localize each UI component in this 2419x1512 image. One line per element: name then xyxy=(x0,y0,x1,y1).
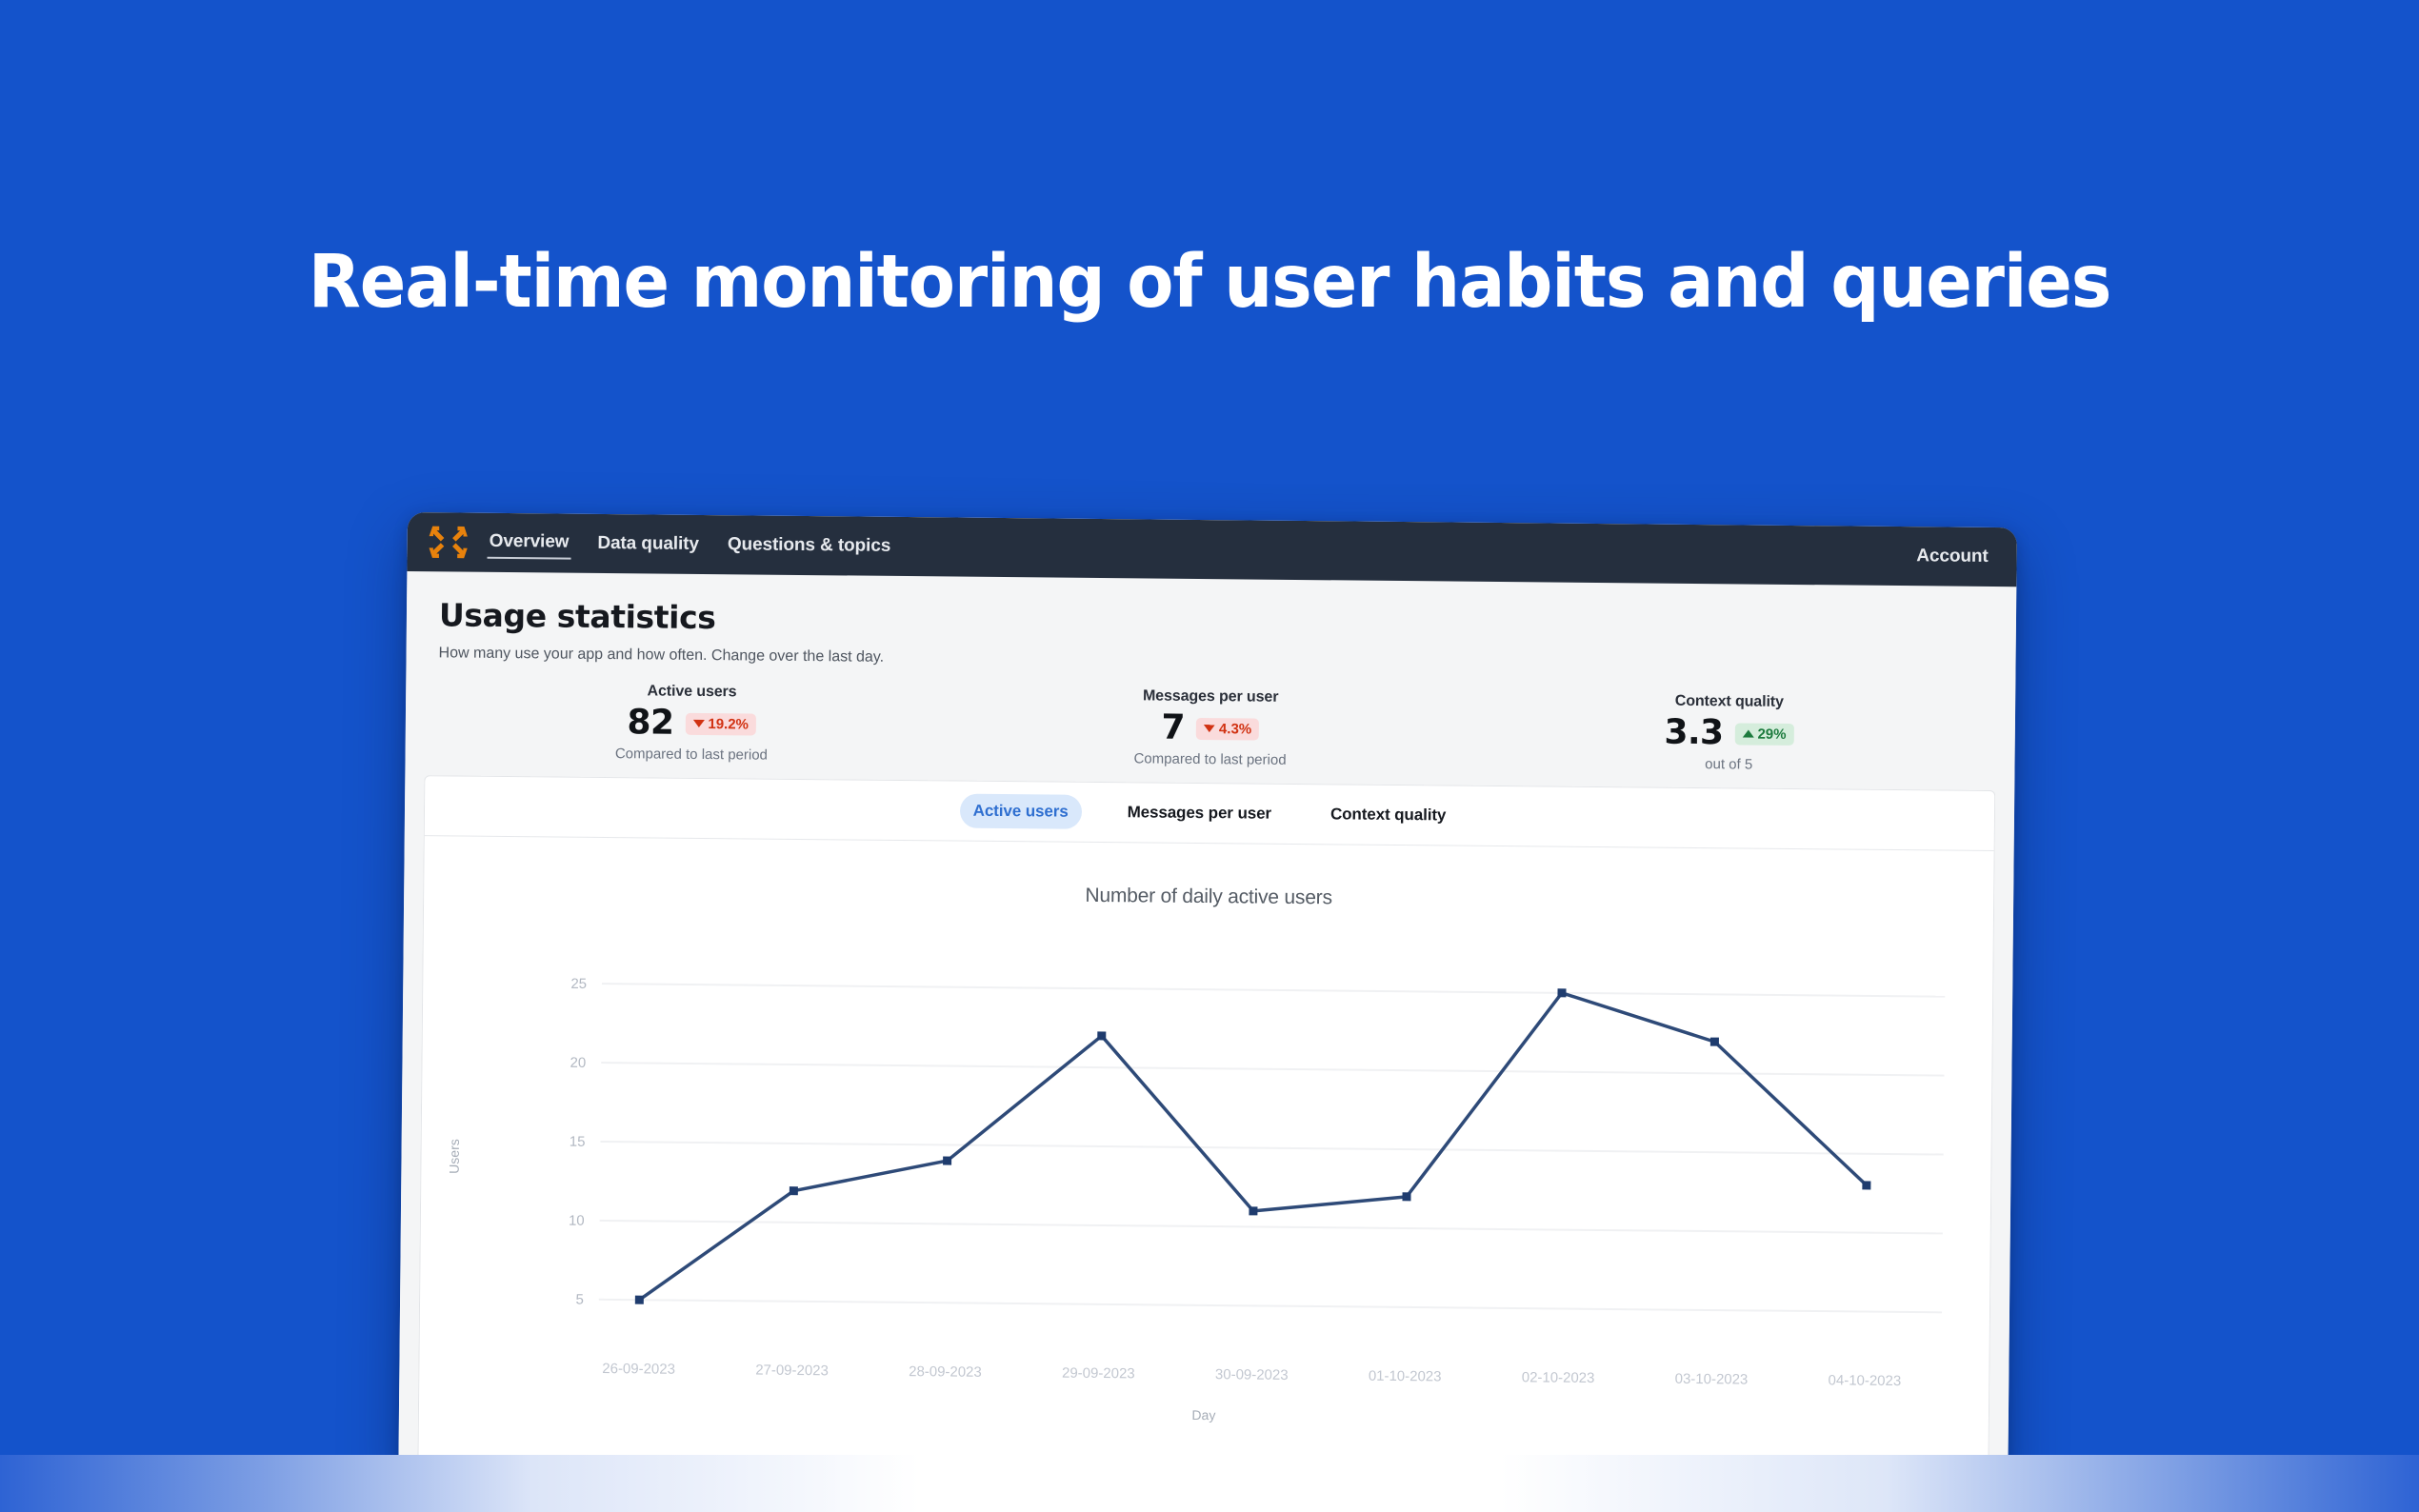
kpi-label: Active users xyxy=(432,681,951,703)
page-subtitle: How many use your app and how often. Cha… xyxy=(438,645,1983,677)
svg-text:20: 20 xyxy=(570,1055,587,1071)
kpi-row: Active users 82 19.2% Compared to last p… xyxy=(406,681,2016,775)
status-badge: 19.2% xyxy=(685,712,756,735)
status-badge: 4.3% xyxy=(1196,717,1259,740)
kpi-value: 82 xyxy=(627,706,673,740)
svg-text:5: 5 xyxy=(575,1292,584,1308)
svg-text:28-09-2023: 28-09-2023 xyxy=(909,1363,982,1381)
svg-text:30-09-2023: 30-09-2023 xyxy=(1215,1366,1289,1383)
main-nav: Overview Data quality Questions & topics xyxy=(488,527,893,562)
line-chart-svg: 51015202526-09-202327-09-202328-09-20232… xyxy=(419,918,1993,1428)
page-headline: Real-time monitoring of user habits and … xyxy=(85,246,2334,319)
kpi-delta: 29% xyxy=(1757,726,1786,741)
kpi-value-row: 82 19.2% xyxy=(432,704,951,743)
brand-logo-icon xyxy=(428,522,468,562)
kpi-delta: 4.3% xyxy=(1219,722,1251,736)
tab-context-quality[interactable]: Context quality xyxy=(1317,797,1460,832)
chart-panel: Active users Messages per user Context q… xyxy=(415,775,1995,1489)
kpi-active-users: Active users 82 19.2% Compared to last p… xyxy=(432,681,951,765)
kpi-messages-per-user: Messages per user 7 4.3% Compared to las… xyxy=(950,686,1469,769)
kpi-footnote: Compared to last period xyxy=(432,744,951,765)
arrow-down-icon xyxy=(692,720,704,727)
svg-text:27-09-2023: 27-09-2023 xyxy=(755,1363,829,1380)
arrow-down-icon xyxy=(1204,725,1215,732)
app-body: Usage statistics How many use your app a… xyxy=(398,571,2016,1489)
kpi-value-row: 3.3 29% xyxy=(1469,714,1989,753)
svg-text:26-09-2023: 26-09-2023 xyxy=(602,1361,675,1378)
arrow-up-icon xyxy=(1742,729,1753,737)
kpi-footnote: Compared to last period xyxy=(950,748,1469,769)
kpi-label: Context quality xyxy=(1469,691,1989,713)
kpi-delta: 19.2% xyxy=(708,717,749,731)
nav-item-data-quality[interactable]: Data quality xyxy=(595,528,701,559)
svg-text:04-10-2023: 04-10-2023 xyxy=(1829,1372,1902,1389)
kpi-value: 7 xyxy=(1161,711,1185,746)
chart-plot-area: 51015202526-09-202327-09-202328-09-20232… xyxy=(419,918,1993,1428)
chart-title: Number of daily active users xyxy=(424,878,1993,916)
kpi-context-quality: Context quality 3.3 29% out of 5 xyxy=(1469,691,1989,775)
svg-text:25: 25 xyxy=(570,976,587,992)
nav-item-questions-topics[interactable]: Questions & topics xyxy=(726,530,893,562)
bottom-gradient-band xyxy=(0,1455,2419,1512)
svg-text:29-09-2023: 29-09-2023 xyxy=(1062,1365,1135,1383)
chart-y-axis-label: Users xyxy=(447,1139,462,1174)
svg-text:01-10-2023: 01-10-2023 xyxy=(1369,1368,1442,1385)
app-window: Overview Data quality Questions & topics… xyxy=(398,512,2017,1489)
svg-text:03-10-2023: 03-10-2023 xyxy=(1675,1371,1749,1388)
kpi-footnote: out of 5 xyxy=(1469,754,1989,775)
status-badge: 29% xyxy=(1734,723,1793,746)
hero-section: Real-time monitoring of user habits and … xyxy=(0,246,2419,319)
kpi-value-row: 7 4.3% xyxy=(950,708,1469,747)
tab-messages-per-user[interactable]: Messages per user xyxy=(1113,795,1285,831)
svg-text:10: 10 xyxy=(569,1213,585,1229)
nav-item-overview[interactable]: Overview xyxy=(488,527,571,559)
tab-active-users[interactable]: Active users xyxy=(960,794,1082,829)
kpi-label: Messages per user xyxy=(951,686,1470,707)
header-right: Account xyxy=(1916,546,1989,567)
page-header: Usage statistics How many use your app a… xyxy=(406,596,2016,677)
kpi-value: 3.3 xyxy=(1664,716,1723,751)
chart-tabs: Active users Messages per user Context q… xyxy=(425,776,1995,851)
svg-text:02-10-2023: 02-10-2023 xyxy=(1522,1369,1595,1386)
account-menu[interactable]: Account xyxy=(1916,546,1989,567)
page-title: Usage statistics xyxy=(439,596,1984,648)
svg-text:15: 15 xyxy=(570,1134,586,1150)
